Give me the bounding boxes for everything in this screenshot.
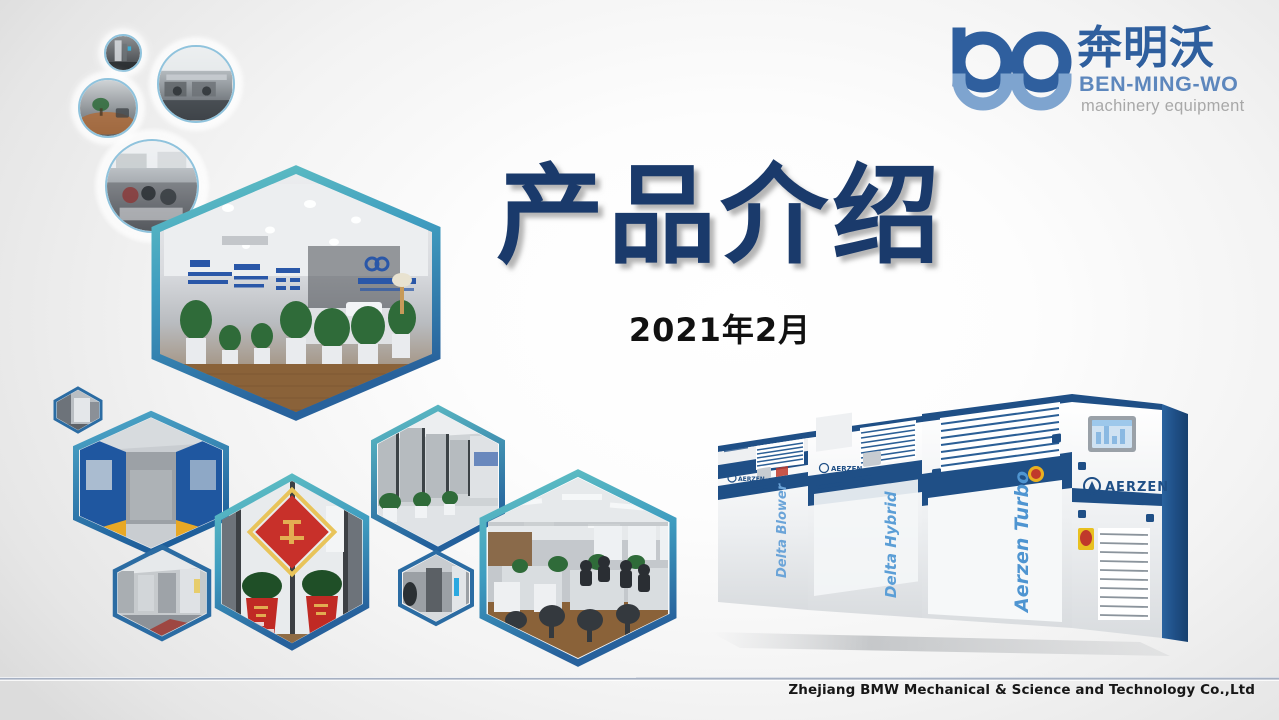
svg-text:AERZEN: AERZEN — [738, 476, 765, 483]
photo-bubble-open-office-desks — [150, 38, 242, 130]
photo-hexagon-open-plan-office — [478, 470, 678, 666]
photo-office-equipment-closeup — [106, 36, 141, 71]
bubble-ring — [157, 45, 234, 122]
photo-hexagon-security-gate-small — [396, 550, 476, 626]
machine-label-delta-blower: Delta Blower — [775, 482, 790, 578]
logo-tagline: machinery equipment — [1081, 98, 1244, 115]
presentation-slide: Delta Blower AERZEN — [0, 0, 1279, 720]
machine-unit-delta-blower: Delta Blower AERZEN — [718, 432, 812, 610]
photo-hexagon-entrance-doorway — [214, 474, 370, 650]
photo-bubble-office-equipment-closeup — [100, 30, 146, 76]
footer-divider — [0, 677, 1279, 680]
hexagon-photo-company-lobby — [150, 168, 442, 418]
louver-grille-cabinet — [1098, 528, 1150, 620]
photo-hexagon-corridor-doors-small — [110, 545, 214, 641]
svg-text:AERZEN: AERZEN — [831, 465, 862, 473]
page-subtitle: 2021年2月 — [470, 305, 970, 351]
photo-meeting-table-plant — [80, 80, 137, 137]
machine-unit-aerzen-turbo: Aerzen Turbo — [922, 394, 1078, 628]
photo-hexagon-company-lobby — [150, 168, 442, 418]
company-logo: 奔明沃 BEN-MING-WO machinery equipment — [945, 22, 1245, 130]
page-title: 产品介绍 — [470, 160, 970, 273]
logo-chinese-name: 奔明沃 — [1077, 25, 1215, 70]
machine-label-aerzen-turbo: Aerzen Turbo — [1011, 471, 1033, 614]
machine-unit-delta-hybrid: Delta Hybrid AERZEN — [808, 413, 926, 618]
product-photo-aerzen-blower-lineup: Delta Blower AERZEN — [700, 380, 1200, 665]
logo-romanized-name: BEN-MING-WO — [1079, 74, 1238, 96]
emergency-switch — [1078, 528, 1094, 550]
svg-text:AERZEN: AERZEN — [1105, 480, 1169, 495]
machine-control-cabinet: AERZEN — [1072, 394, 1188, 642]
hmi-touchscreen — [1088, 416, 1136, 452]
photo-hexagon-factory-corridor — [72, 412, 230, 554]
footer-company-name: Zhejiang BMW Mechanical & Science and Te… — [788, 682, 1255, 698]
bubble-ring — [78, 78, 139, 139]
photo-open-office-desks — [159, 47, 232, 120]
machine-label-delta-hybrid: Delta Hybrid — [882, 491, 900, 598]
